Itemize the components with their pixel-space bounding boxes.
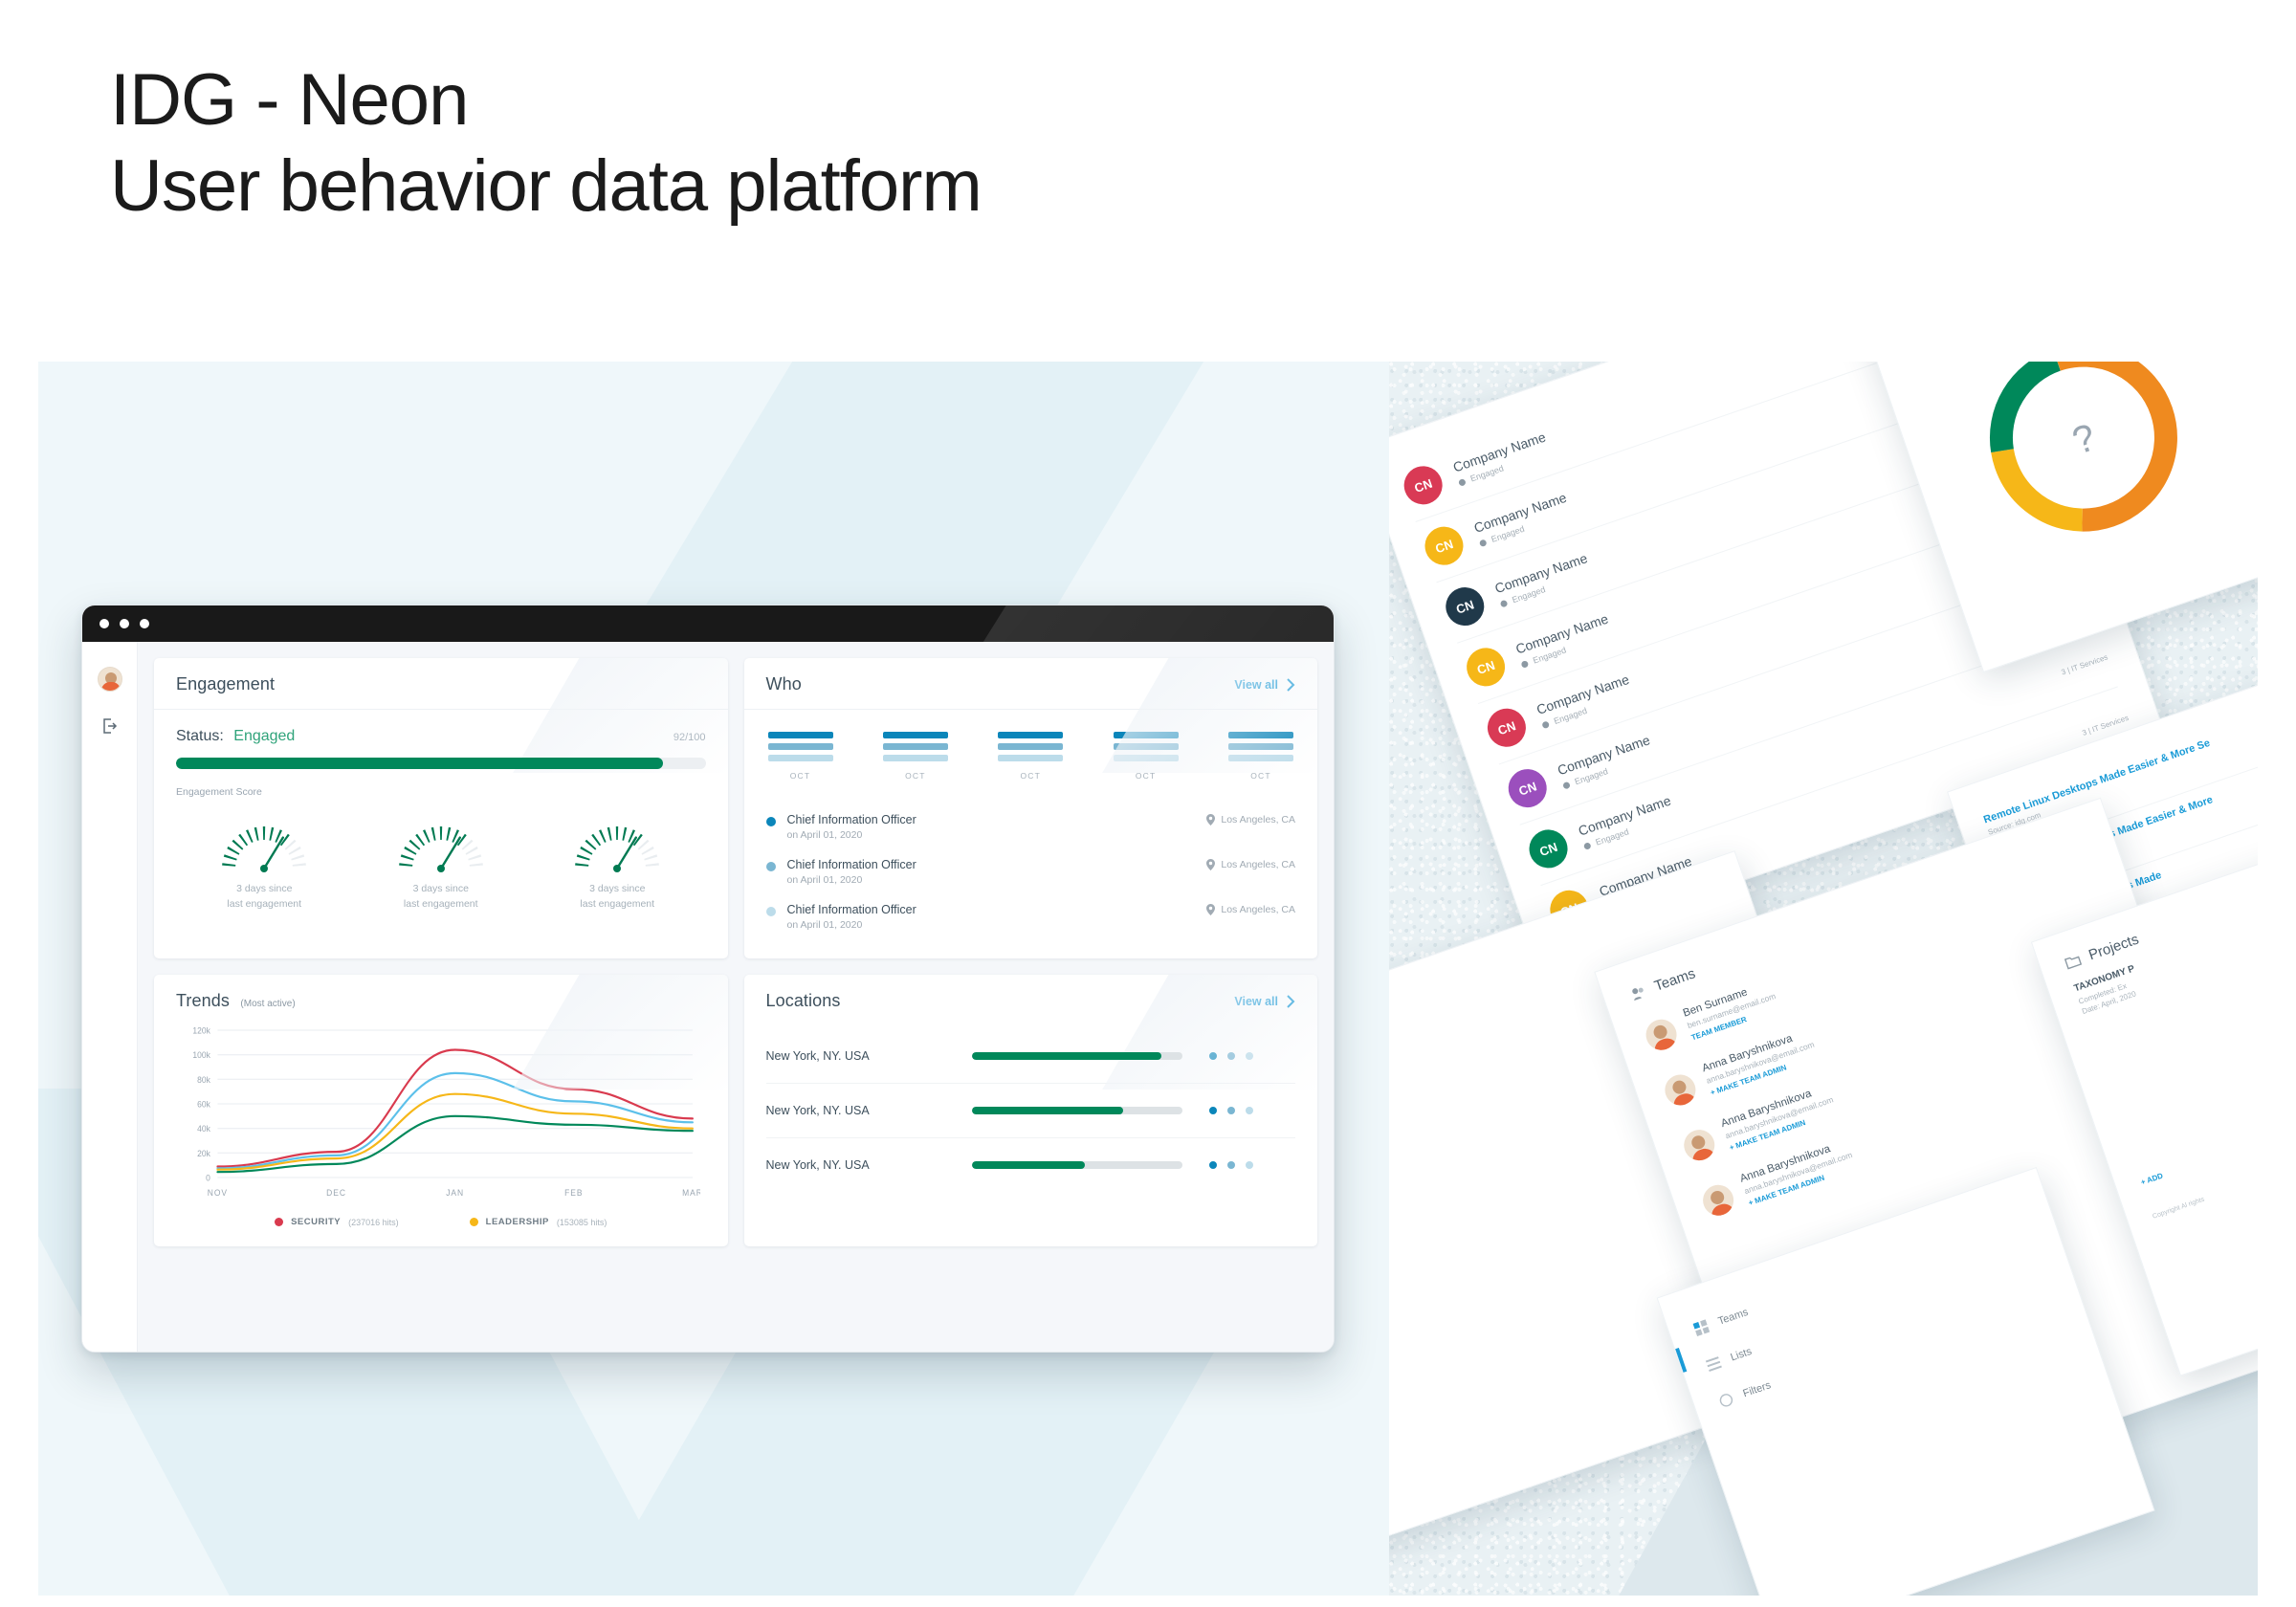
who-month-group: OCT (1228, 732, 1293, 783)
svg-text:DEC: DEC (326, 1188, 346, 1198)
engagement-title: Engagement (176, 674, 275, 694)
window-controls[interactable] (99, 619, 149, 628)
person-date: on April 01, 2020 (787, 919, 1207, 931)
company-avatar: CN (1420, 521, 1468, 570)
legend-item-security: SECURITY (237016 hits) (275, 1217, 399, 1227)
status-dot (766, 862, 776, 871)
who-month-group: OCT (1114, 732, 1179, 783)
who-month-label: OCT (905, 771, 926, 781)
browser-titlebar (82, 605, 1334, 642)
who-month-label: OCT (1136, 771, 1157, 781)
location-progress-fill (972, 1161, 1086, 1169)
trends-subtitle: (Most active) (240, 999, 295, 1009)
list-item[interactable]: Chief Information Officer on April 01, 2… (766, 804, 1296, 849)
map-pin-icon (1206, 904, 1215, 915)
who-month-label: OCT (790, 771, 811, 781)
chevron-right-icon (1287, 678, 1295, 692)
location-progress-bar (972, 1107, 1182, 1114)
table-row[interactable]: New York, NY. USA (766, 1029, 1296, 1084)
who-card-header: Who View all (744, 658, 1318, 710)
location-dots (1209, 1107, 1253, 1114)
engagement-card-header: Engagement (154, 658, 728, 710)
location-dots (1209, 1161, 1253, 1169)
gauge-2: 3 days since last engagement (369, 813, 513, 913)
svg-text:FEB: FEB (564, 1188, 583, 1198)
locations-card: Locations View all New York, NY. USA (744, 975, 1318, 1246)
avatar[interactable] (98, 667, 122, 692)
who-card: Who View all OCT OCT (744, 658, 1318, 958)
svg-text:MAR: MAR (682, 1188, 699, 1198)
svg-text:NOV: NOV (208, 1188, 228, 1198)
legend-swatch (275, 1218, 283, 1226)
window-close-dot[interactable] (99, 619, 109, 628)
grid-icon (1692, 1319, 1710, 1336)
table-row[interactable]: New York, NY. USA (766, 1138, 1296, 1192)
who-month-label: OCT (1020, 771, 1041, 781)
list-item[interactable]: Chief Information Officer on April 01, 2… (766, 849, 1296, 894)
browser-window: Engagement Status: Engaged 92/100 Engage… (81, 605, 1335, 1353)
right-showcase-panel: CN Company Name Engaged 3 | IT Services … (1389, 362, 2258, 1596)
gauge-caption-line1: 3 days since (192, 882, 336, 897)
company-avatar: CN (1399, 461, 1447, 510)
trends-card: Trends (Most active) 020k40k60k80k100k12… (154, 975, 728, 1246)
gauge-1: 3 days since last engagement (192, 813, 336, 913)
person-date: on April 01, 2020 (787, 874, 1207, 886)
trends-card-header: Trends (Most active) (154, 975, 728, 1013)
titlebar-sheen (964, 605, 1334, 642)
gauge-caption-line2: last engagement (545, 897, 689, 913)
avatar (1699, 1180, 1738, 1220)
filter-icon (1718, 1392, 1735, 1409)
company-avatar: CN (1524, 825, 1573, 873)
status-value: Engaged (233, 728, 295, 744)
svg-text:60k: 60k (197, 1099, 210, 1109)
window-minimize-dot[interactable] (120, 619, 129, 628)
app-body: Engagement Status: Engaged 92/100 Engage… (82, 642, 1334, 1352)
person-role: Chief Information Officer (787, 903, 1207, 916)
engagement-progress-fill (176, 758, 663, 769)
app-sidebar-rail (82, 642, 138, 1352)
engagement-progress-bar (176, 758, 706, 769)
gauge-dial-icon (387, 813, 495, 876)
location-name: New York, NY. USA (766, 1049, 972, 1063)
who-view-all-label: View all (1234, 678, 1278, 692)
gauge-caption-line2: last engagement (369, 897, 513, 913)
company-avatar: CN (1462, 643, 1511, 692)
location-progress-bar (972, 1161, 1182, 1169)
status-dot (766, 817, 776, 826)
person-date: on April 01, 2020 (787, 829, 1207, 841)
logout-icon[interactable] (100, 716, 120, 736)
window-maximize-dot[interactable] (140, 619, 149, 628)
person-role: Chief Information Officer (787, 858, 1207, 871)
legend-item-leadership: LEADERSHIP (153085 hits) (470, 1217, 607, 1227)
location-progress-fill (972, 1052, 1161, 1060)
who-month-bars: OCT OCT OCT OCT (766, 728, 1296, 783)
add-project-button[interactable]: + ADD (2140, 1092, 2258, 1186)
company-avatar: CN (1503, 764, 1552, 813)
gauge-3: 3 days since last engagement (545, 813, 689, 913)
gauge-caption-line1: 3 days since (369, 882, 513, 897)
gauge-dial-icon (563, 813, 671, 876)
engagement-score-value: 92/100 (673, 732, 706, 743)
who-month-group: OCT (998, 732, 1063, 783)
avatar (1661, 1070, 1700, 1110)
trends-legend: SECURITY (237016 hits) LEADERSHIP (15308… (176, 1217, 706, 1227)
person-location: Los Angeles, CA (1206, 903, 1295, 915)
svg-text:?: ? (2067, 416, 2101, 463)
person-location: Los Angeles, CA (1206, 813, 1295, 826)
svg-text:JAN: JAN (446, 1188, 464, 1198)
location-name: New York, NY. USA (766, 1158, 972, 1172)
gauge-caption-line2: last engagement (192, 897, 336, 913)
engagement-status-row: Status: Engaged 92/100 (176, 728, 706, 745)
company-avatar: CN (1441, 583, 1490, 631)
who-title: Who (766, 674, 802, 694)
locations-title: Locations (766, 991, 841, 1011)
engagement-gauges: 3 days since last engagement 3 days sinc… (176, 813, 706, 913)
location-progress-bar (972, 1052, 1182, 1060)
svg-text:120k: 120k (192, 1025, 210, 1035)
list-item[interactable]: Chief Information Officer on April 01, 2… (766, 894, 1296, 939)
trends-chart: 020k40k60k80k100k120kNOVDECJANFEBMAR (176, 1017, 706, 1207)
gauge-caption-line1: 3 days since (545, 882, 689, 897)
engagement-card: Engagement Status: Engaged 92/100 Engage… (154, 658, 728, 958)
who-view-all-link[interactable]: View all (1234, 678, 1295, 692)
list-icon (1706, 1355, 1723, 1373)
person-role: Chief Information Officer (787, 813, 1207, 826)
title-line-1: IDG - Neon (110, 57, 982, 143)
legend-swatch (470, 1218, 478, 1226)
who-month-label: OCT (1250, 771, 1271, 781)
svg-text:100k: 100k (192, 1050, 210, 1060)
engagement-score-label: Engagement Score (176, 786, 706, 798)
status-dot (766, 907, 776, 916)
svg-text:40k: 40k (197, 1124, 210, 1134)
location-dots (1209, 1052, 1253, 1060)
svg-text:20k: 20k (197, 1149, 210, 1158)
who-month-group: OCT (768, 732, 833, 783)
person-location: Los Angeles, CA (1206, 858, 1295, 870)
chevron-right-icon (1287, 995, 1295, 1008)
table-row[interactable]: New York, NY. USA (766, 1084, 1296, 1138)
svg-text:80k: 80k (197, 1075, 210, 1085)
folder-icon (2064, 953, 2083, 970)
locations-view-all-link[interactable]: View all (1234, 995, 1295, 1008)
trends-title: Trends (176, 991, 230, 1010)
teams-icon (1629, 982, 1648, 1002)
company-meta: 3 | IT Services (2060, 652, 2108, 676)
map-pin-icon (1206, 814, 1215, 826)
gauge-dial-icon (210, 813, 318, 876)
avatar (1680, 1125, 1719, 1164)
page-title: IDG - Neon User behavior data platform (110, 57, 982, 229)
location-progress-fill (972, 1107, 1123, 1114)
title-line-2: User behavior data platform (110, 143, 982, 230)
dashboard-grid: Engagement Status: Engaged 92/100 Engage… (138, 642, 1334, 1352)
locations-view-all-label: View all (1234, 995, 1278, 1008)
map-pin-icon (1206, 859, 1215, 870)
locations-card-header: Locations View all (744, 975, 1318, 1025)
avatar (1642, 1015, 1681, 1054)
svg-text:0: 0 (206, 1173, 210, 1182)
status-label: Status: (176, 728, 224, 744)
who-month-group: OCT (883, 732, 948, 783)
who-list: Chief Information Officer on April 01, 2… (766, 804, 1296, 939)
location-name: New York, NY. USA (766, 1104, 972, 1117)
company-avatar: CN (1482, 703, 1531, 752)
